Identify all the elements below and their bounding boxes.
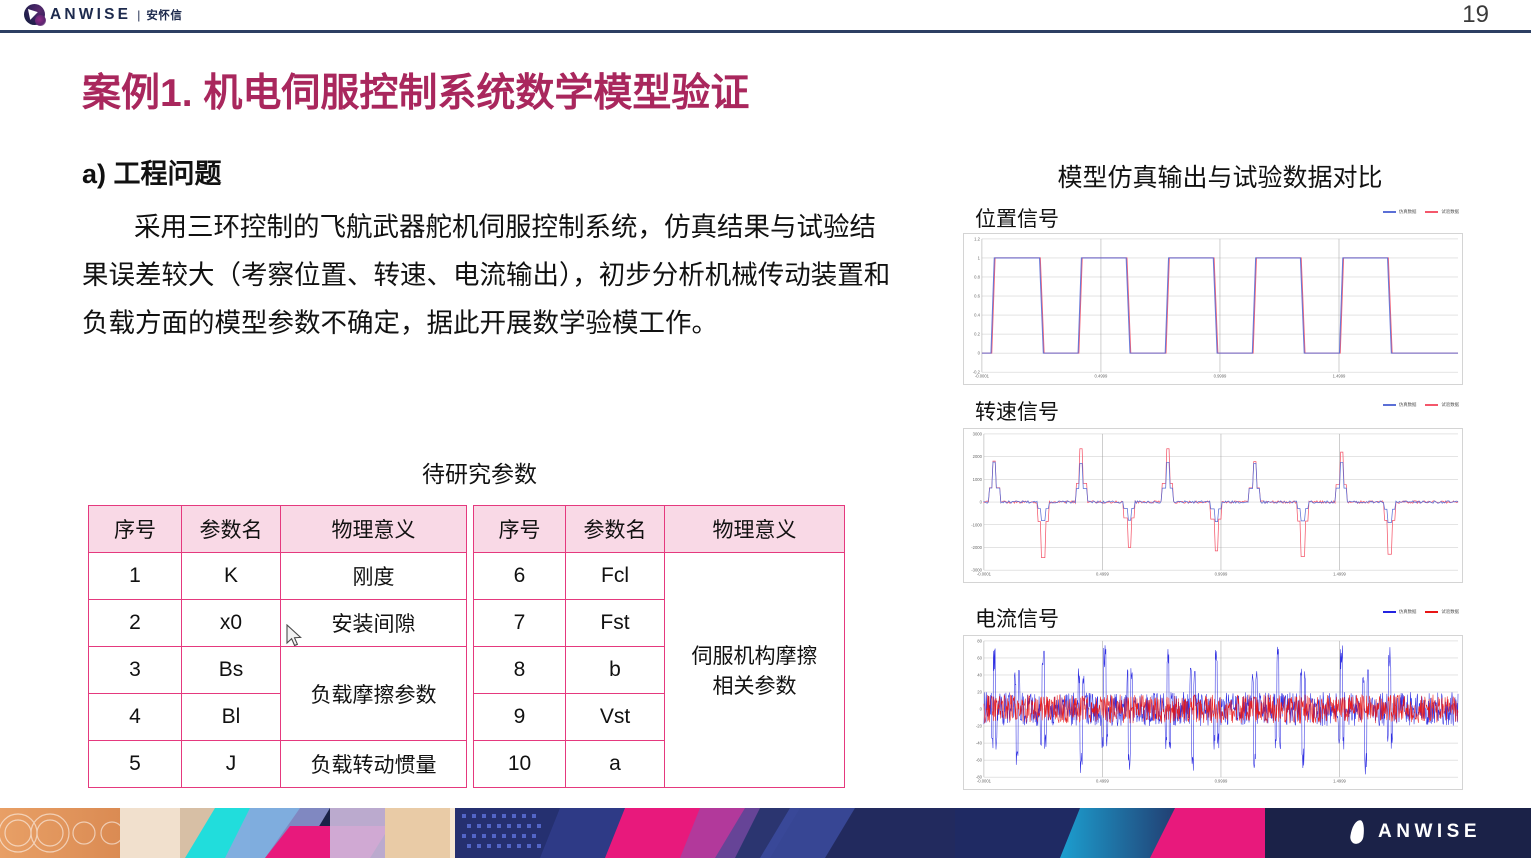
slide: ANWISE | 安怀信 19 案例1. 机电伺服控制系统数学模型验证 a) 工… [0, 0, 1531, 858]
cell-index: 7 [474, 600, 566, 647]
legend-swatch-test [1425, 611, 1438, 613]
charts-section-title: 模型仿真输出与试验数据对比 [965, 158, 1475, 194]
svg-text:1: 1 [978, 256, 981, 261]
cell-index: 10 [474, 741, 566, 788]
svg-text:0.4999: 0.4999 [1095, 373, 1108, 378]
svg-text:0: 0 [980, 707, 983, 712]
legend-label-sim: 仿真数据 [1399, 209, 1417, 215]
cell-name: Fst [566, 600, 665, 647]
svg-text:-1000: -1000 [971, 522, 982, 527]
svg-text:3000: 3000 [973, 432, 983, 437]
plot-svg-position: 1.210.80.60.40.20-0.2-0.00010.49990.9999… [964, 234, 1462, 384]
plot-svg-speed: 3000200010000-1000-2000-3000-0.00010.499… [964, 429, 1462, 582]
parameter-table-right: 序号 参数名 物理意义 6 Fcl 伺服机构摩擦 相关参数 7 Fst [473, 505, 845, 788]
legend-item-test: 试验数据 [1425, 209, 1459, 215]
svg-text:1.4999: 1.4999 [1333, 373, 1346, 378]
header-divider [0, 30, 1531, 33]
legend-label-test: 试验数据 [1441, 609, 1459, 615]
legend-swatch-sim [1383, 211, 1396, 213]
brand-chinese-label: 安怀信 [146, 7, 182, 23]
cell-index: 5 [89, 741, 182, 788]
parameter-table-left: 序号 参数名 物理意义 1 K 刚度 2 x0 安装间隙 3 B [88, 505, 467, 788]
table-header-row: 序号 参数名 物理意义 [474, 506, 845, 553]
cell-meaning: 安装间隙 [281, 600, 467, 647]
chart-legend-position: 仿真数据 试验数据 [1383, 209, 1459, 215]
svg-text:0: 0 [980, 500, 983, 505]
top-header-bar: ANWISE | 安怀信 19 [0, 0, 1531, 30]
column-header-meaning: 物理意义 [281, 506, 467, 553]
chart-position-signal: 位置信号 仿真数据 试验数据 1.210.80.60.40.20-0.2-0.0… [963, 205, 1463, 385]
svg-text:0.9999: 0.9999 [1214, 373, 1227, 378]
cell-name: b [566, 647, 665, 694]
column-header-index: 序号 [89, 506, 182, 553]
cell-index: 3 [89, 647, 182, 694]
svg-text:-0.0001: -0.0001 [977, 778, 992, 783]
legend-item-test: 试验数据 [1425, 609, 1459, 615]
page-title: 案例1. 机电伺服控制系统数学模型验证 [82, 62, 749, 118]
chart-title-speed: 转速信号 [975, 396, 1059, 426]
anwise-logo-icon [24, 4, 45, 25]
svg-text:1000: 1000 [973, 477, 983, 482]
cell-meaning-merged: 伺服机构摩擦 相关参数 [665, 553, 845, 788]
svg-text:1.4999: 1.4999 [1333, 778, 1346, 783]
table-header-row: 序号 参数名 物理意义 [89, 506, 467, 553]
svg-text:0.4999: 0.4999 [1096, 571, 1109, 576]
svg-text:0.9999: 0.9999 [1215, 778, 1228, 783]
svg-text:-0.0001: -0.0001 [977, 571, 992, 576]
parameter-tables: 序号 参数名 物理意义 1 K 刚度 2 x0 安装间隙 3 B [88, 505, 845, 788]
svg-text:0.8: 0.8 [974, 275, 980, 280]
legend-swatch-test [1425, 404, 1438, 406]
svg-text:2000: 2000 [973, 454, 983, 459]
svg-text:80: 80 [977, 639, 982, 644]
svg-text:-20: -20 [976, 724, 983, 729]
cell-index: 1 [89, 553, 182, 600]
svg-text:40: 40 [977, 673, 982, 678]
svg-text:60: 60 [977, 656, 982, 661]
cell-name: K [182, 553, 281, 600]
svg-text:-2000: -2000 [971, 545, 982, 550]
cell-name: a [566, 741, 665, 788]
plot-svg-current: 806040200-20-40-60-80-0.00010.49990.9999… [964, 636, 1462, 789]
plot-area-current: 806040200-20-40-60-80-0.00010.49990.9999… [963, 635, 1463, 790]
table-row: 6 Fcl 伺服机构摩擦 相关参数 [474, 553, 845, 600]
cell-index: 8 [474, 647, 566, 694]
table-row: 5 J 负载转动惯量 [89, 741, 467, 788]
legend-label-sim: 仿真数据 [1399, 402, 1417, 408]
legend-item-sim: 仿真数据 [1383, 402, 1417, 408]
cell-index: 6 [474, 553, 566, 600]
svg-text:-60: -60 [976, 758, 983, 763]
table-row: 1 K 刚度 [89, 553, 467, 600]
column-header-name: 参数名 [182, 506, 281, 553]
cell-meaning: 负载转动惯量 [281, 741, 467, 788]
svg-text:20: 20 [977, 690, 982, 695]
chart-title-position: 位置信号 [975, 203, 1059, 233]
svg-text:0.2: 0.2 [974, 332, 980, 337]
merged-meaning-line1: 伺服机构摩擦 [692, 645, 818, 668]
chart-legend-current: 仿真数据 试验数据 [1383, 609, 1459, 615]
merged-meaning-line2: 相关参数 [713, 675, 797, 698]
table-caption: 待研究参数 [82, 455, 877, 489]
cell-meaning: 刚度 [281, 553, 467, 600]
chart-speed-signal: 转速信号 仿真数据 试验数据 3000200010000-1000-2000-3… [963, 398, 1463, 583]
cell-name: Fcl [566, 553, 665, 600]
brand-name-label: ANWISE [50, 6, 131, 24]
svg-text:0.6: 0.6 [974, 294, 980, 299]
legend-label-sim: 仿真数据 [1399, 609, 1417, 615]
page-number: 19 [1462, 1, 1489, 29]
footer-bar: ANWISE [0, 808, 1531, 858]
cell-name: Bl [182, 694, 281, 741]
legend-label-test: 试验数据 [1441, 402, 1459, 408]
cell-index: 2 [89, 600, 182, 647]
cell-index: 9 [474, 694, 566, 741]
svg-text:0: 0 [978, 351, 981, 356]
table-row: 3 Bs 负载摩擦参数 [89, 647, 467, 694]
cell-name: Vst [566, 694, 665, 741]
cell-name: x0 [182, 600, 281, 647]
anwise-footer-logo-icon [1348, 820, 1368, 844]
column-header-name: 参数名 [566, 506, 665, 553]
svg-text:-0.0001: -0.0001 [975, 373, 990, 378]
chart-legend-speed: 仿真数据 试验数据 [1383, 402, 1459, 408]
footer-brand-name: ANWISE [1378, 821, 1481, 843]
body-paragraph: 采用三环控制的飞航武器舵机伺服控制系统，仿真结果与试验结果误差较大（考察位置、转… [82, 203, 897, 347]
legend-item-test: 试验数据 [1425, 402, 1459, 408]
plot-area-position: 1.210.80.60.40.20-0.2-0.00010.49990.9999… [963, 233, 1463, 385]
svg-text:-40: -40 [976, 741, 983, 746]
footer-brand: ANWISE [1348, 820, 1481, 844]
column-header-meaning: 物理意义 [665, 506, 845, 553]
svg-text:1.4999: 1.4999 [1333, 571, 1346, 576]
brand-logo: ANWISE | 安怀信 [24, 4, 182, 25]
brand-separator: | [137, 8, 140, 22]
svg-text:0.4: 0.4 [974, 313, 980, 318]
footer-decorative-art [0, 808, 1531, 858]
chart-title-current: 电流信号 [975, 603, 1059, 633]
legend-item-sim: 仿真数据 [1383, 609, 1417, 615]
section-heading: a) 工程问题 [82, 152, 222, 191]
svg-text:1.2: 1.2 [974, 237, 980, 242]
column-header-index: 序号 [474, 506, 566, 553]
legend-label-test: 试验数据 [1441, 209, 1459, 215]
chart-current-signal: 电流信号 仿真数据 试验数据 806040200-20-40-60-80-0.0… [963, 605, 1463, 790]
table-row: 2 x0 安装间隙 [89, 600, 467, 647]
legend-swatch-test [1425, 211, 1438, 213]
legend-swatch-sim [1383, 611, 1396, 613]
svg-text:0.4999: 0.4999 [1096, 778, 1109, 783]
cell-index: 4 [89, 694, 182, 741]
cell-name: J [182, 741, 281, 788]
svg-text:0.9999: 0.9999 [1215, 571, 1228, 576]
cell-name: Bs [182, 647, 281, 694]
legend-swatch-sim [1383, 404, 1396, 406]
plot-area-speed: 3000200010000-1000-2000-3000-0.00010.499… [963, 428, 1463, 583]
legend-item-sim: 仿真数据 [1383, 209, 1417, 215]
cell-meaning-merged: 负载摩擦参数 [281, 647, 467, 741]
